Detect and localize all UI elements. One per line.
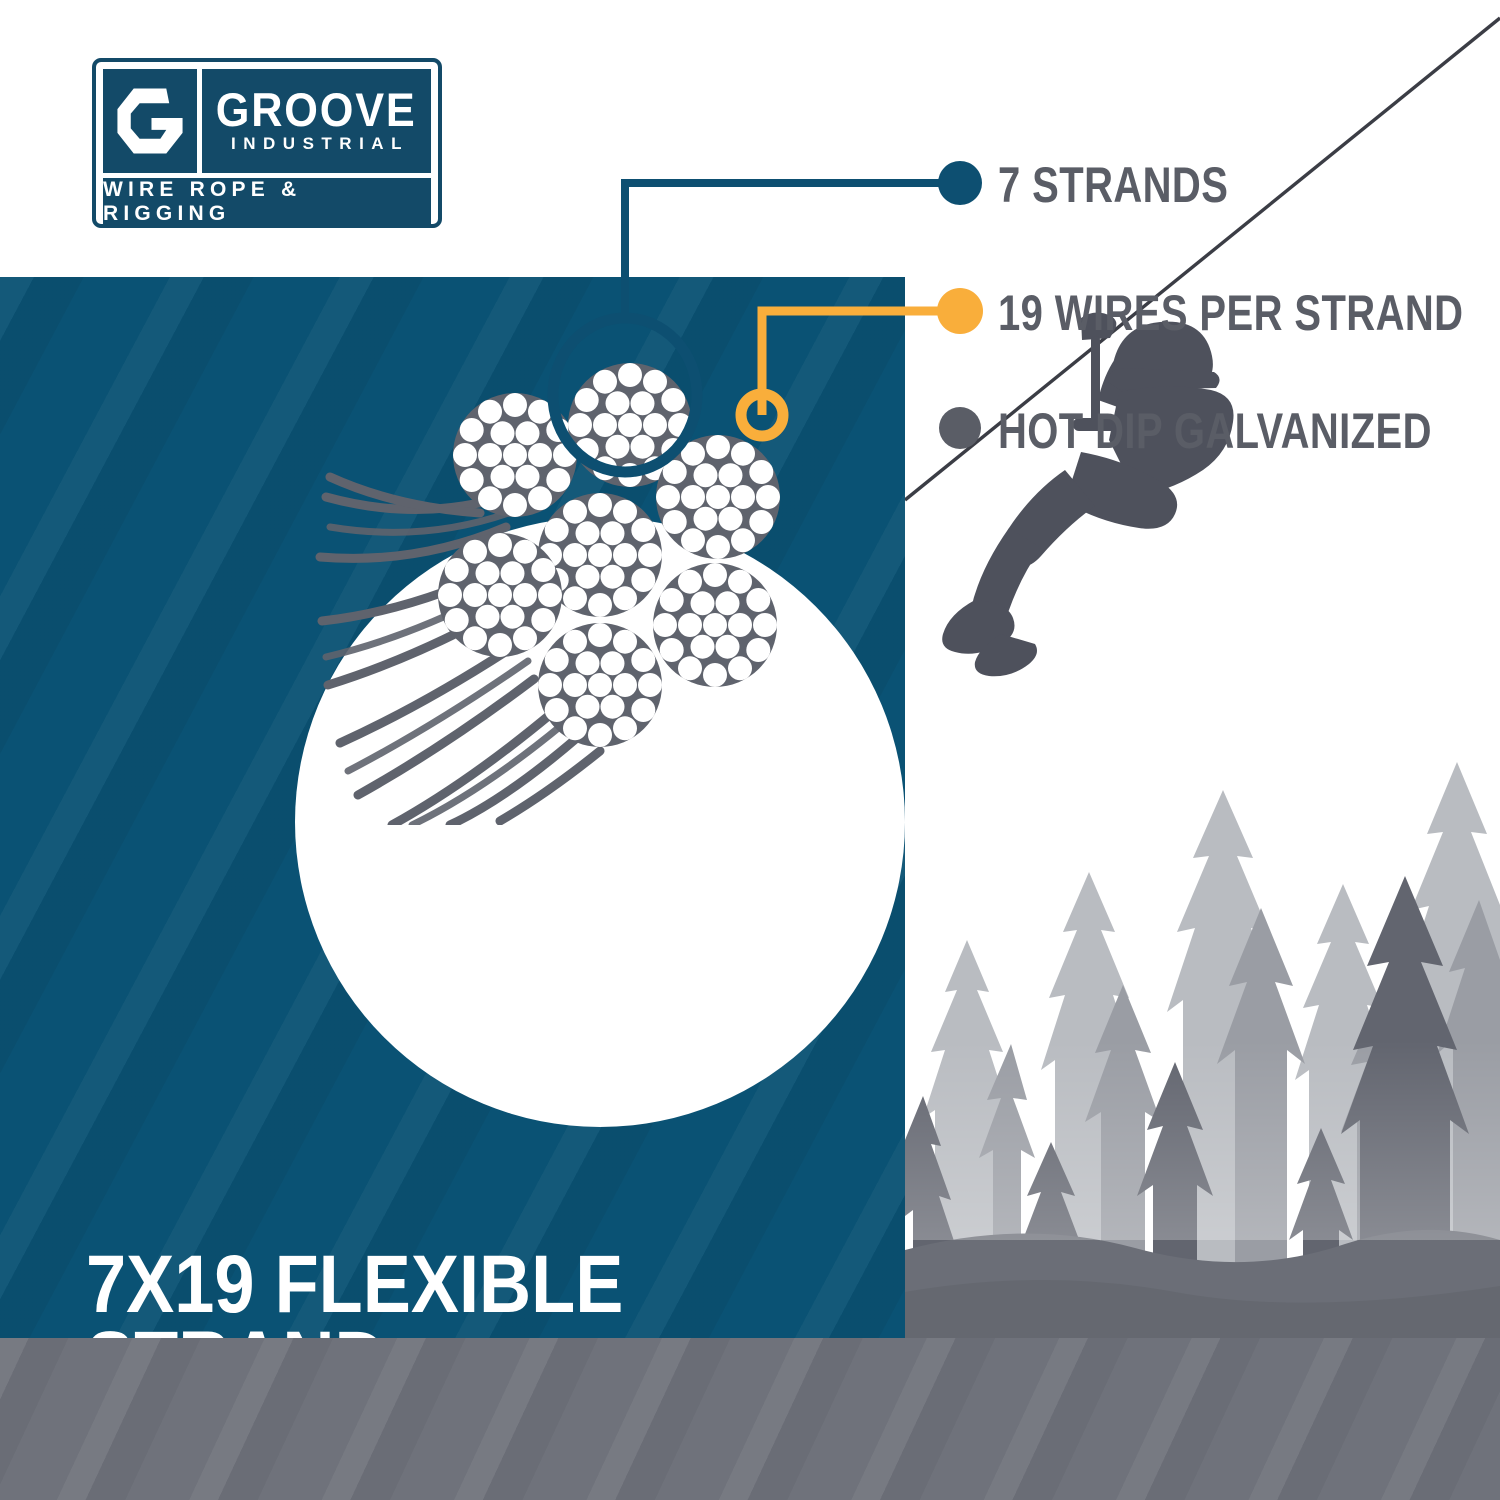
leader-line-wires — [762, 311, 952, 415]
infographic-root: 7X19 FLEXIBLE STRAND CONSTRUCTION Our ai… — [0, 0, 1500, 1500]
callout-label-hot-dip-galvanized: HOT DIP GALVANIZED — [998, 402, 1432, 460]
brand-wordmark: GROOVE INDUSTRIAL — [202, 69, 431, 173]
callout-dot-galvanized — [939, 407, 981, 449]
page-title: 7X19 FLEXIBLE STRAND CONSTRUCTION — [86, 1247, 790, 1338]
callout-label-wires-per-strand: 19 WIRES PER STRAND — [998, 284, 1463, 342]
bottom-texture-strip — [0, 1338, 1500, 1500]
callout-dot-wires — [937, 288, 983, 334]
brand-logo[interactable]: GROOVE INDUSTRIAL WIRE ROPE & RIGGING — [92, 58, 442, 228]
brand-name: GROOVE — [216, 88, 417, 131]
leader-line-strands — [625, 183, 952, 318]
brand-tagline: WIRE ROPE & RIGGING — [103, 178, 431, 226]
callout-label-strands: 7 STRANDS — [998, 156, 1228, 214]
brand-subname: INDUSTRIAL — [224, 134, 409, 154]
callout-dot-strands — [938, 161, 982, 205]
groove-g-mark-icon — [103, 69, 197, 173]
